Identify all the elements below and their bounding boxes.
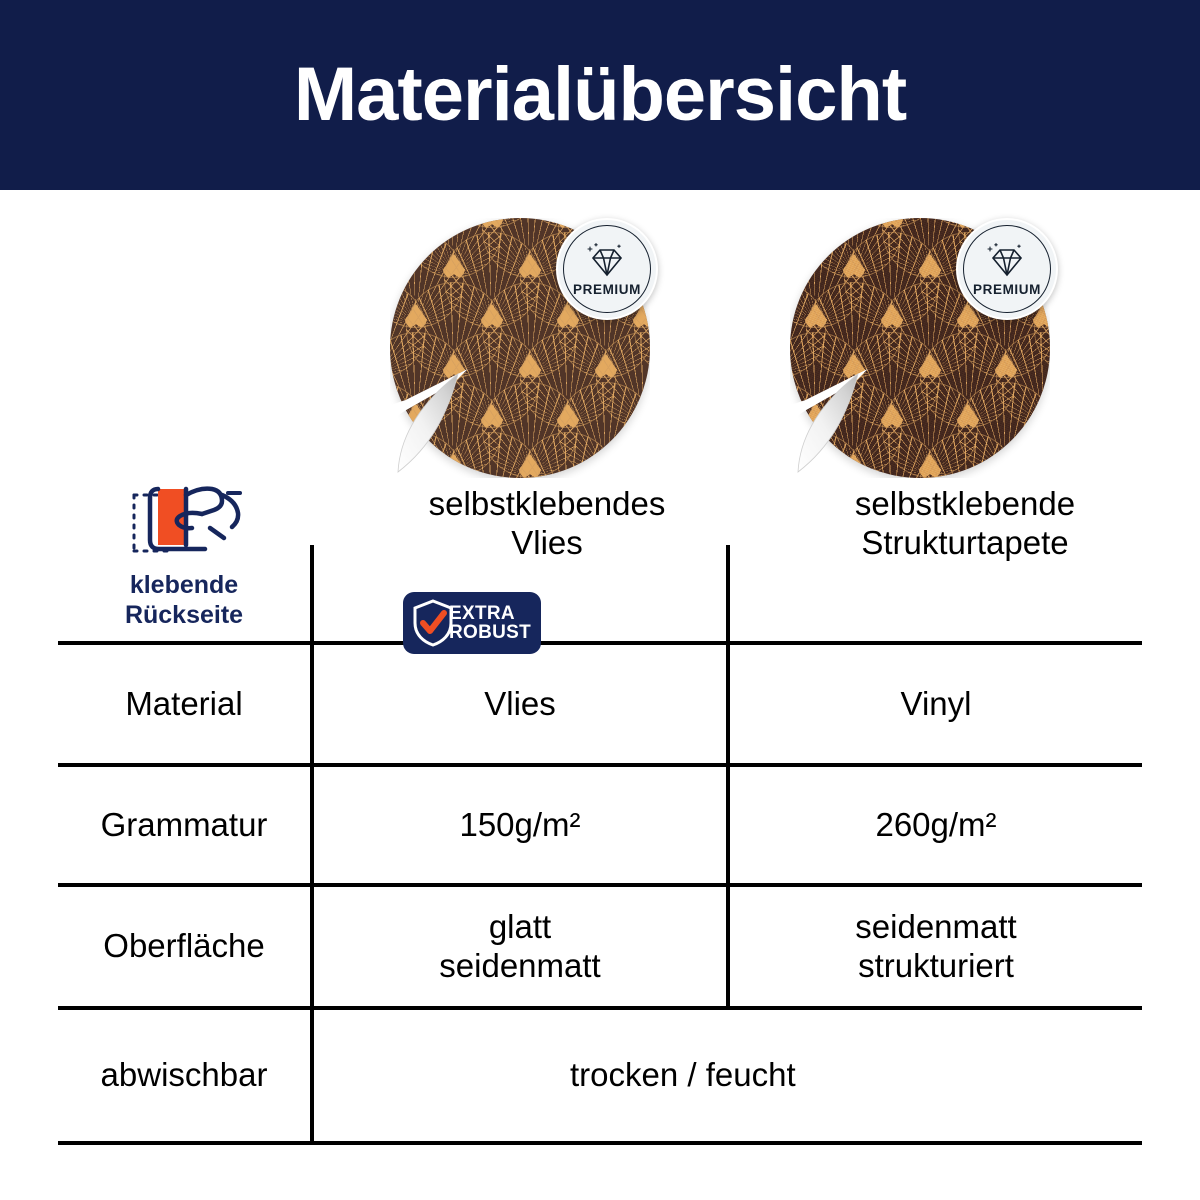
row-label-oberflaeche: Oberfläche (58, 887, 310, 1006)
cell-material-vlies: Vlies (314, 645, 726, 763)
premium-badge: PREMIUM (956, 218, 1058, 320)
page-header: Materialübersicht (0, 0, 1200, 190)
table-rule-5 (58, 1141, 1142, 1145)
cell-oberflaeche-vlies: glatt seidenmatt (314, 887, 726, 1006)
adhesive-label-line1: klebende (130, 571, 238, 599)
extra-robust-line1: EXTRA (449, 603, 515, 624)
column-header-vinyl: selbstklebende Strukturtapete (788, 475, 1142, 573)
page-title: Materialübersicht (294, 57, 906, 133)
cell-grammatur-vinyl: 260g/m² (730, 767, 1142, 883)
diamond-icon (584, 241, 630, 281)
column-header-vlies: selbstklebendes Vlies (312, 475, 782, 573)
cell-material-vinyl: Vinyl (730, 645, 1142, 763)
premium-label: PREMIUM (573, 283, 641, 297)
peeling-adhesive-hand-icon (122, 473, 246, 565)
cell-oberflaeche-vlies-line1: glatt (489, 908, 551, 947)
cell-grammatur-vlies: 150g/m² (314, 767, 726, 883)
extra-robust-label: EXTRA ROBUST (449, 604, 531, 643)
row-label-material: Material (58, 645, 310, 763)
premium-badge: PREMIUM (556, 218, 658, 320)
cell-oberflaeche-vinyl-line2: strukturiert (858, 947, 1014, 986)
adhesive-backing-cell: klebende Rückseite (56, 473, 312, 641)
column-header-vinyl-line2: Strukturtapete (861, 524, 1068, 563)
shield-check-icon (411, 599, 455, 647)
row-label-abwischbar: abwischbar (58, 1010, 310, 1141)
premium-label: PREMIUM (973, 283, 1041, 297)
cell-oberflaeche-vlies-line2: seidenmatt (439, 947, 600, 986)
material-comparison-table: klebende Rückseite selbstklebendes Vlies… (58, 545, 1142, 1145)
sample-strukturtapete: PREMIUM (790, 218, 1050, 478)
adhesive-label-line2: Rückseite (125, 601, 243, 629)
column-header-vlies-line2: Vlies (511, 524, 583, 563)
diamond-icon (984, 241, 1030, 281)
row-label-grammatur: Grammatur (58, 767, 310, 883)
extra-robust-badge: EXTRA ROBUST (403, 592, 541, 654)
cell-oberflaeche-vinyl-line1: seidenmatt (855, 908, 1016, 947)
extra-robust-line2: ROBUST (449, 622, 531, 643)
cell-abwischbar-value: trocken / feucht (570, 1010, 1130, 1141)
adhesive-backing-label: klebende Rückseite (125, 571, 243, 630)
column-header-vinyl-line1: selbstklebende (855, 485, 1075, 524)
cell-oberflaeche-vinyl: seidenmatt strukturiert (730, 887, 1142, 1006)
sample-vlies: PREMIUM (390, 218, 650, 478)
column-header-vlies-line1: selbstklebendes (429, 485, 666, 524)
